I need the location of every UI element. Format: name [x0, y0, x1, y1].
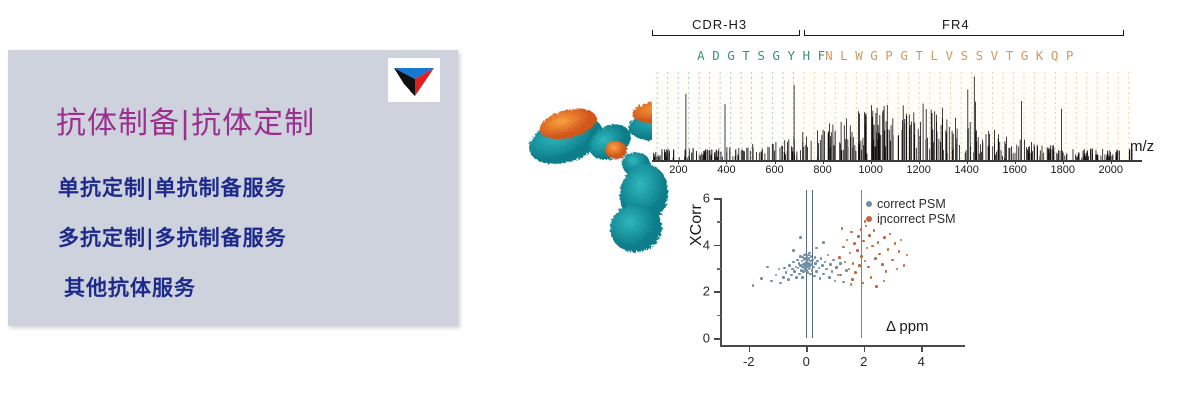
seq-row1-cdr: A D G T S G Y H F [697, 48, 825, 63]
scatter-point [832, 259, 835, 262]
mz-tick [1063, 160, 1064, 164]
company-logo [388, 58, 440, 102]
seq-row1-fr: N L W G P G T L V S S V T G K Q P [825, 48, 1073, 63]
scatter-point [811, 269, 814, 272]
scatter-point [814, 256, 817, 259]
scatter-point [896, 268, 899, 271]
sequence-row-query: A D G T S G Y H FN L W G P G T L V S S V… [652, 36, 1134, 75]
promo-link-other[interactable]: 其他抗体服务 [64, 272, 196, 302]
scatter-point [842, 246, 845, 249]
scatter-point [824, 261, 827, 264]
scatter-point [848, 268, 851, 271]
legend-item-incorrect: incorrect PSM [866, 211, 956, 226]
mz-tick [775, 160, 776, 164]
x-tick-label: 2 [860, 354, 867, 369]
scatter-point [874, 257, 877, 260]
mz-tick-label: 1800 [1050, 164, 1074, 176]
scatter-point [818, 267, 821, 270]
scatter-point [864, 260, 867, 263]
scatter-point [819, 277, 822, 280]
scatter-point [844, 261, 847, 264]
scatter-point [831, 270, 834, 273]
scatter-point [820, 257, 823, 260]
x-tick [749, 346, 751, 352]
promo-link-pab[interactable]: 多抗定制|多抗制备服务 [58, 222, 287, 252]
region-bracket: CDR-H3 FR4 [652, 20, 1134, 36]
legend-label-incorrect: incorrect PSM [877, 212, 956, 226]
scatter-point [851, 278, 854, 281]
scatter-point [821, 264, 824, 267]
scatter-point [875, 285, 878, 288]
scatter-point [853, 242, 856, 245]
scatter-point [796, 259, 799, 262]
scatter-point [813, 275, 816, 278]
scatter-point [900, 239, 903, 242]
scatter-point [815, 270, 818, 273]
scatter-point [822, 241, 825, 244]
mz-tick [726, 160, 727, 164]
mz-tick-label: 2000 [1099, 164, 1123, 176]
scatter-point [891, 259, 894, 262]
scatter-point [839, 262, 842, 265]
region-label-cdrh3: CDR-H3 [692, 17, 747, 32]
scatter-point [775, 274, 778, 277]
scatter-point [854, 271, 857, 274]
scatter-point [906, 254, 909, 257]
scatter-point [828, 276, 831, 279]
scatter-point [793, 270, 796, 273]
scatter-point [787, 278, 790, 281]
threshold-line [861, 190, 862, 338]
scatter-point [860, 255, 863, 258]
x-tick [921, 346, 923, 352]
scatter-point [881, 263, 884, 266]
mz-tick-label: 200 [669, 164, 687, 176]
scatter-point [850, 283, 853, 286]
scatter-point [770, 280, 773, 283]
scatter-point [846, 239, 849, 242]
scientific-figure: CDR-H3 FR4 A D G T S G Y H FN L W G P G … [520, 0, 1200, 400]
scatter-point [825, 268, 828, 271]
mz-tick-label: 400 [717, 164, 735, 176]
scatter-point [878, 253, 881, 256]
mz-tick [967, 160, 968, 164]
scatter-point [792, 249, 795, 252]
y-tick [714, 245, 720, 247]
scatter-point [783, 267, 786, 270]
mz-tick [823, 160, 824, 164]
y-tick-minor [717, 221, 721, 223]
scatter-point [809, 273, 812, 276]
y-tick [714, 198, 720, 200]
scatter-point [858, 264, 861, 267]
logo-mark [388, 58, 440, 102]
scatter-point [778, 268, 781, 271]
y-tick-label: 4 [690, 237, 710, 252]
x-tick-label: 4 [918, 354, 925, 369]
scatter-point [799, 236, 802, 239]
mz-tick [678, 160, 679, 164]
legend-item-correct: correct PSM [866, 196, 956, 211]
scatter-point [822, 273, 825, 276]
promo-panel: 抗体制备|抗体定制 单抗定制|单抗制备服务 多抗定制|多抗制备服务 其他抗体服务 [8, 50, 458, 326]
mz-tick [919, 160, 920, 164]
page-title: 抗体制备|抗体定制 [56, 98, 315, 142]
scatter-point [860, 228, 863, 231]
scatter-point [779, 282, 782, 285]
mz-tick-label: 1400 [954, 164, 978, 176]
legend-dot-incorrect [866, 216, 872, 222]
scatter-point [877, 241, 880, 244]
spectrum-peaks [652, 72, 1134, 160]
scatter-point [903, 264, 906, 267]
scatter-point [810, 255, 813, 258]
scatter-point [883, 236, 886, 239]
scatter-point [798, 273, 801, 276]
scatter-point [811, 259, 814, 262]
scatter-point [834, 280, 837, 283]
y-tick-minor [717, 315, 721, 317]
scatter-point [814, 262, 817, 265]
scatter-point [852, 262, 855, 265]
scatter-point [857, 235, 860, 238]
region-label-fr4: FR4 [942, 17, 970, 32]
scatter-point [894, 242, 897, 245]
scatter-point [885, 270, 888, 273]
scatter-point [868, 234, 871, 237]
mz-tick [1111, 160, 1112, 164]
x-axis [720, 345, 965, 347]
scatter-point [790, 274, 793, 277]
mz-tick-label: 600 [765, 164, 783, 176]
scatter-point [867, 266, 870, 269]
x-tick [806, 346, 808, 352]
y-tick-minor [717, 268, 721, 270]
scatter-point [849, 252, 852, 255]
mz-tick [1015, 160, 1016, 164]
scatter-point [889, 233, 892, 236]
scatter-point [862, 240, 865, 243]
scatter-point [782, 276, 785, 279]
scatter-point [815, 247, 818, 250]
mz-tick-label: 1200 [906, 164, 930, 176]
mz-tick-label: 1600 [1002, 164, 1026, 176]
y-tick [714, 291, 720, 293]
scatter-point [873, 229, 876, 232]
scatter-point [887, 248, 890, 251]
y-tick-label: 0 [690, 331, 710, 346]
scatter-point [870, 276, 873, 279]
scatter-point [842, 281, 845, 284]
scatter-point [839, 274, 842, 277]
scatter-point [752, 284, 755, 287]
scatter-point [760, 277, 763, 280]
scatter-point [812, 266, 815, 269]
y-tick-label: 2 [690, 284, 710, 299]
scatter-point [816, 260, 819, 263]
mass-spectrum [652, 72, 1134, 160]
scatter-point [850, 231, 853, 234]
scatter-point [898, 250, 901, 253]
scatter-point [841, 227, 844, 230]
scatter-point [835, 267, 838, 270]
y-tick [714, 338, 720, 340]
mz-tick [871, 160, 872, 164]
legend-dot-correct [866, 201, 872, 207]
mz-tick-label: 800 [813, 164, 831, 176]
scatter-point [883, 280, 886, 283]
scatter-point [856, 249, 859, 252]
scatter-point [829, 263, 832, 266]
scatter-point [801, 276, 804, 279]
x-tick [864, 346, 866, 352]
scatter-point [871, 245, 874, 248]
scatter-point [866, 247, 869, 250]
y-tick-label: 6 [690, 191, 710, 206]
mz-tick-label: 1000 [858, 164, 882, 176]
scatter-point [788, 264, 791, 267]
scatter-point [795, 276, 798, 279]
scatter-point [838, 256, 841, 259]
scatter-point [792, 261, 795, 264]
chart-legend: correct PSM incorrect PSM [866, 196, 956, 226]
scatter-point [827, 254, 830, 257]
scatter-point [808, 252, 811, 255]
x-tick-label: -2 [743, 354, 755, 369]
legend-label-correct: correct PSM [877, 197, 946, 211]
promo-link-mab[interactable]: 单抗定制|单抗制备服务 [58, 172, 287, 202]
scatter-point [785, 271, 788, 274]
xcorr-scatter-plot: XCorr Δ ppm 0246-2024 correct PSM incorr… [690, 190, 990, 375]
x-tick-label: 0 [803, 354, 810, 369]
scatter-point [766, 266, 769, 269]
mz-axis-label: m/z [1130, 138, 1154, 155]
